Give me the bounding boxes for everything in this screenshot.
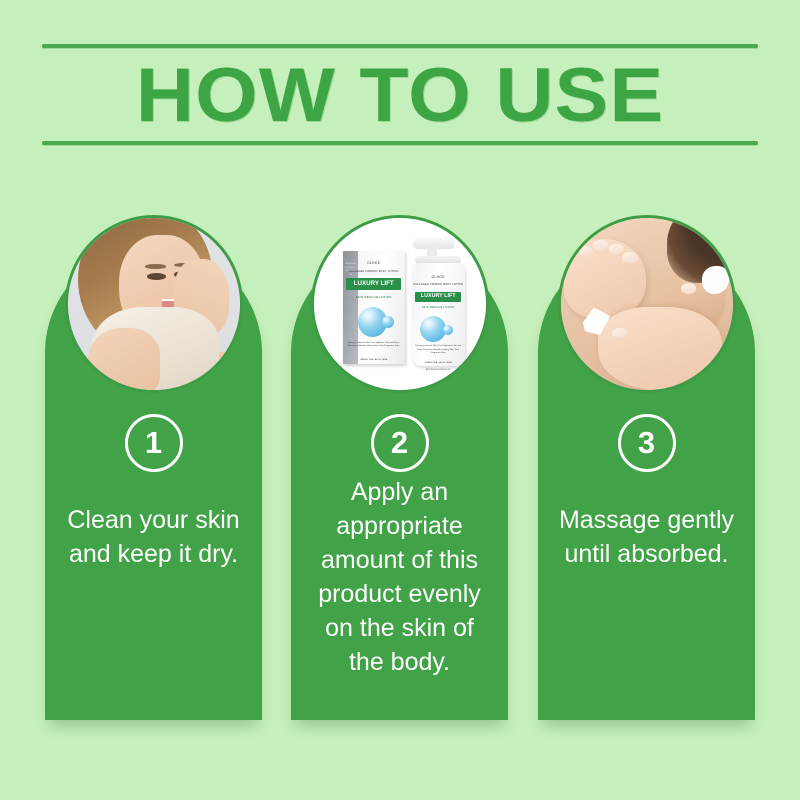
- box-subtitle-label: SKIN RESCUE LOTION: [343, 295, 405, 299]
- step-caption-2: Apply an appropriate amount of this prod…: [299, 475, 500, 679]
- bottle-bullets: Firming Lotion for Skin Care Hydrates Li…: [415, 345, 461, 355]
- page-title: HOW TO USE: [0, 53, 800, 139]
- step-number-badge-3: 3: [618, 414, 676, 472]
- header-rule-top: [42, 44, 758, 48]
- step-number-badge-2: 2: [371, 414, 429, 472]
- step-1-photo: [65, 215, 243, 393]
- step-number-badge-1: 1: [125, 414, 183, 472]
- bottle-ingredients: GREEN TEA + ALOE VERA: [415, 362, 461, 364]
- box-brand-label: OLHOE: [343, 261, 405, 265]
- bottle-descriptor-label: COLLAGEN FIRMING BODY LOTION: [412, 283, 465, 286]
- woman-towel-illustration: [68, 218, 240, 390]
- step-caption-1: Clean your skin and keep it dry.: [53, 503, 254, 571]
- box-descriptor-label: COLLAGEN FIRMING BODY LOTION: [343, 270, 405, 273]
- step-card-2[interactable]: INGREDIENTS DIRECTIONS CAUTION OLHOE COL…: [291, 245, 508, 720]
- header-rule-bottom: [42, 141, 758, 145]
- steps-row: 1 Clean your skin and keep it dry. INGRE…: [45, 245, 755, 725]
- bottle-product-name: LUXURY LIFT: [415, 292, 461, 302]
- box-product-name: LUXURY LIFT: [346, 278, 401, 290]
- step-3-photo: [558, 215, 736, 393]
- step-caption-3: Massage gently until absorbed.: [546, 503, 747, 571]
- box-bubble-small: [382, 316, 394, 328]
- page-header: HOW TO USE: [0, 44, 800, 145]
- step-2-photo: INGREDIENTS DIRECTIONS CAUTION OLHOE COL…: [311, 215, 489, 393]
- bottle-net-weight: NET 300mL/10.56 FL.OZ: [415, 369, 461, 371]
- box-bullets: Firming Lotion for Skin Care Hydrates Li…: [346, 342, 401, 349]
- product-illustration: INGREDIENTS DIRECTIONS CAUTION OLHOE COL…: [314, 218, 486, 390]
- step-card-1[interactable]: 1 Clean your skin and keep it dry.: [45, 245, 262, 720]
- massage-illustration: [561, 218, 733, 390]
- bottle-subtitle-label: SKIN RESCUE LOTION: [412, 306, 465, 309]
- box-ingredients: GREEN TEA + ALOE VERA: [346, 359, 401, 361]
- bottle-brand-label: OLHOE: [412, 275, 465, 279]
- poster-canvas: HOW TO USE 1: [0, 0, 800, 800]
- step-card-3[interactable]: 3 Massage gently until absorbed.: [538, 245, 755, 720]
